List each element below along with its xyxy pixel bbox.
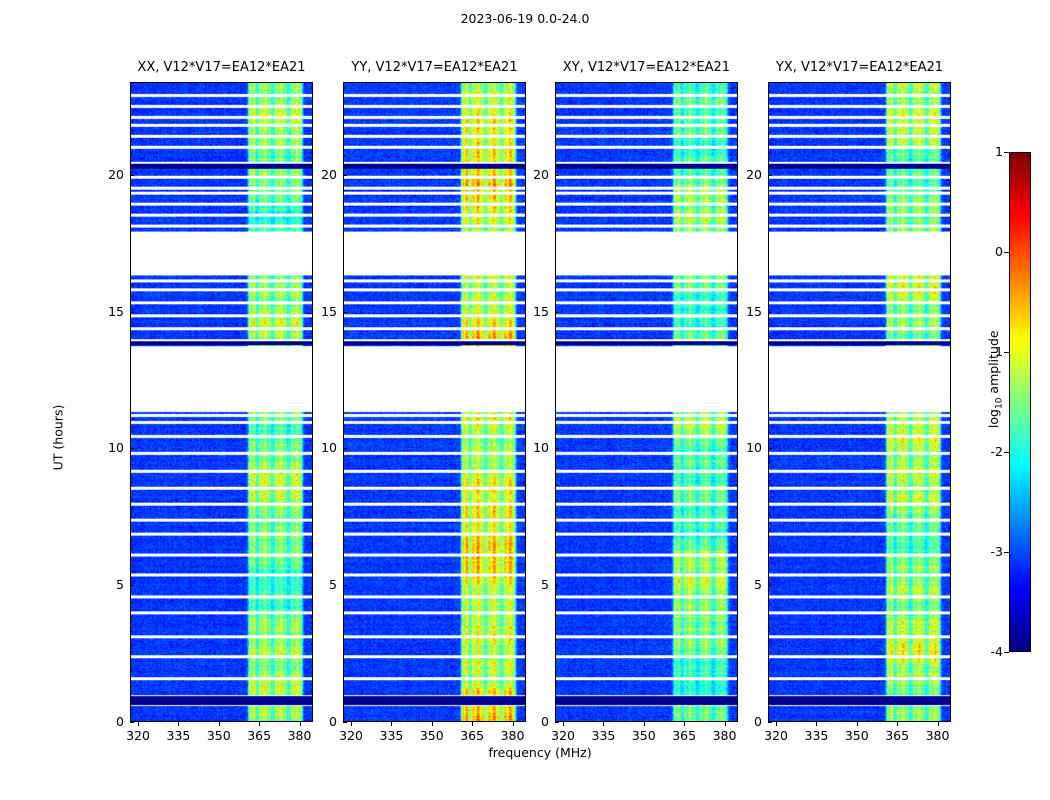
x-tick-label-p0-1: 335 <box>158 728 198 743</box>
y-tick-label-p1-3: 15 <box>297 304 337 319</box>
x-tick-label-p3-3: 365 <box>877 728 917 743</box>
x-tick-label-p2-0: 320 <box>543 728 583 743</box>
y-tick-mark-p2-4 <box>555 175 559 176</box>
colorbar-tick-label-2: -2 <box>975 444 1003 459</box>
colorbar-tick-label-1: -3 <box>975 544 1003 559</box>
y-tick-mark-p1-3 <box>343 312 347 313</box>
x-tick-mark-p3-4 <box>938 722 939 726</box>
y-tick-label-p3-3: 15 <box>722 304 762 319</box>
y-tick-mark-p1-2 <box>343 448 347 449</box>
x-tick-mark-p0-0 <box>138 722 139 726</box>
y-tick-mark-p0-0 <box>130 722 134 723</box>
y-tick-label-p0-4: 20 <box>84 167 124 182</box>
colorbar <box>1009 152 1031 652</box>
x-tick-mark-p0-3 <box>259 722 260 726</box>
colorbar-tick-label-4: 0 <box>975 244 1003 259</box>
x-tick-mark-p0-2 <box>219 722 220 726</box>
x-tick-mark-p2-0 <box>563 722 564 726</box>
colorbar-tick-label-0: -4 <box>975 644 1003 659</box>
colorbar-tick-label-3: -1 <box>975 344 1003 359</box>
y-tick-mark-p2-1 <box>555 585 559 586</box>
colorbar-tick-mark-2 <box>1004 452 1009 453</box>
x-tick-label-p3-4: 380 <box>918 728 958 743</box>
panel-title-yy: YY, V12*V17=EA12*EA21 <box>343 60 526 75</box>
x-tick-label-p3-2: 350 <box>837 728 877 743</box>
colorbar-tick-mark-0 <box>1004 652 1009 653</box>
y-tick-mark-p0-2 <box>130 448 134 449</box>
y-tick-mark-p2-2 <box>555 448 559 449</box>
x-tick-label-p1-2: 350 <box>412 728 452 743</box>
y-tick-mark-p0-1 <box>130 585 134 586</box>
panel-title-xy: XY, V12*V17=EA12*EA21 <box>555 60 738 75</box>
y-tick-mark-p0-4 <box>130 175 134 176</box>
panel-title-yx: YX, V12*V17=EA12*EA21 <box>768 60 951 75</box>
y-tick-mark-p1-4 <box>343 175 347 176</box>
x-tick-label-p2-3: 365 <box>664 728 704 743</box>
y-tick-mark-p2-3 <box>555 312 559 313</box>
y-tick-label-p0-0: 0 <box>84 714 124 729</box>
y-axis-label: UT (hours) <box>51 368 66 508</box>
y-tick-label-p0-2: 10 <box>84 440 124 455</box>
x-tick-label-p0-3: 365 <box>239 728 279 743</box>
y-tick-label-p3-4: 20 <box>722 167 762 182</box>
figure-canvas: 2023-06-19 0.0-24.0 XX, V12*V17=EA12*EA2… <box>0 0 1050 800</box>
y-tick-label-p0-3: 15 <box>84 304 124 319</box>
y-tick-label-p3-2: 10 <box>722 440 762 455</box>
y-tick-label-p2-2: 10 <box>509 440 549 455</box>
x-tick-mark-p3-1 <box>816 722 817 726</box>
y-tick-mark-p3-4 <box>768 175 772 176</box>
colorbar-tick-mark-1 <box>1004 552 1009 553</box>
y-tick-label-p2-0: 0 <box>509 714 549 729</box>
x-tick-label-p1-4: 380 <box>493 728 533 743</box>
x-tick-label-p2-1: 335 <box>583 728 623 743</box>
y-tick-label-p1-0: 0 <box>297 714 337 729</box>
x-tick-label-p1-1: 335 <box>371 728 411 743</box>
x-tick-mark-p3-3 <box>897 722 898 726</box>
x-tick-label-p0-2: 350 <box>199 728 239 743</box>
x-tick-mark-p2-1 <box>603 722 604 726</box>
x-tick-mark-p0-1 <box>178 722 179 726</box>
x-tick-mark-p2-3 <box>684 722 685 726</box>
spectrogram-panel-xx[interactable] <box>130 82 313 722</box>
x-tick-mark-p2-4 <box>725 722 726 726</box>
colorbar-label: log10 amplitude <box>986 289 1005 469</box>
y-tick-mark-p3-2 <box>768 448 772 449</box>
colorbar-tick-label-5: 1 <box>975 144 1003 159</box>
x-tick-mark-p3-0 <box>776 722 777 726</box>
y-tick-mark-p1-0 <box>343 722 347 723</box>
y-tick-mark-p1-1 <box>343 585 347 586</box>
y-tick-label-p3-1: 5 <box>722 577 762 592</box>
y-tick-mark-p3-0 <box>768 722 772 723</box>
y-tick-mark-p3-3 <box>768 312 772 313</box>
x-tick-label-p2-4: 380 <box>705 728 745 743</box>
x-axis-label: frequency (MHz) <box>130 745 950 760</box>
y-tick-label-p1-2: 10 <box>297 440 337 455</box>
y-tick-label-p2-3: 15 <box>509 304 549 319</box>
x-tick-label-p1-0: 320 <box>331 728 371 743</box>
x-tick-mark-p1-1 <box>391 722 392 726</box>
y-tick-label-p2-1: 5 <box>509 577 549 592</box>
x-tick-mark-p0-4 <box>300 722 301 726</box>
y-tick-label-p0-1: 5 <box>84 577 124 592</box>
x-tick-label-p0-4: 380 <box>280 728 320 743</box>
x-tick-label-p0-0: 320 <box>118 728 158 743</box>
figure-suptitle: 2023-06-19 0.0-24.0 <box>0 11 1050 26</box>
x-tick-mark-p2-2 <box>644 722 645 726</box>
x-tick-label-p3-1: 335 <box>796 728 836 743</box>
x-tick-mark-p1-2 <box>432 722 433 726</box>
spectrogram-panel-xy[interactable] <box>555 82 738 722</box>
colorbar-tick-mark-5 <box>1004 152 1009 153</box>
y-tick-mark-p3-1 <box>768 585 772 586</box>
y-tick-label-p2-4: 20 <box>509 167 549 182</box>
x-tick-mark-p1-4 <box>513 722 514 726</box>
x-tick-label-p1-3: 365 <box>452 728 492 743</box>
spectrogram-panel-yy[interactable] <box>343 82 526 722</box>
x-tick-label-p3-0: 320 <box>756 728 796 743</box>
x-tick-mark-p1-0 <box>351 722 352 726</box>
x-tick-label-p2-2: 350 <box>624 728 664 743</box>
spectrogram-panel-yx[interactable] <box>768 82 951 722</box>
colorbar-tick-mark-3 <box>1004 352 1009 353</box>
panel-title-xx: XX, V12*V17=EA12*EA21 <box>130 60 313 75</box>
x-tick-mark-p3-2 <box>857 722 858 726</box>
y-tick-label-p1-1: 5 <box>297 577 337 592</box>
y-tick-label-p1-4: 20 <box>297 167 337 182</box>
y-tick-mark-p0-3 <box>130 312 134 313</box>
y-tick-mark-p2-0 <box>555 722 559 723</box>
y-tick-label-p3-0: 0 <box>722 714 762 729</box>
colorbar-tick-mark-4 <box>1004 252 1009 253</box>
x-tick-mark-p1-3 <box>472 722 473 726</box>
